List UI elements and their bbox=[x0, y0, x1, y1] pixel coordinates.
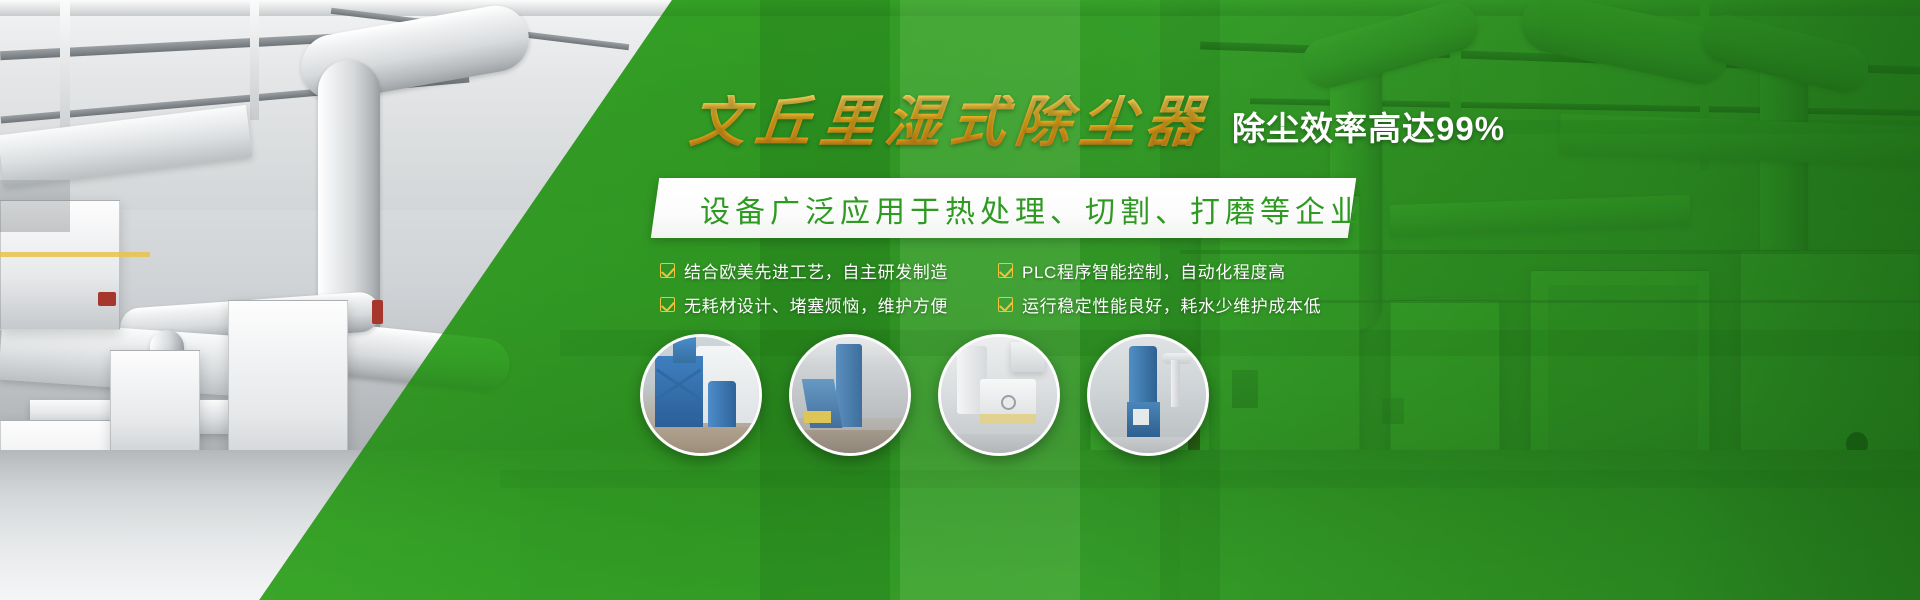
product-thumbnail-4[interactable] bbox=[1087, 334, 1209, 456]
product-thumbnail-2[interactable] bbox=[789, 334, 911, 456]
check-icon bbox=[660, 263, 675, 278]
list-item: 运行稳定性能良好，耗水少维护成本低 bbox=[998, 292, 1321, 317]
title-subheading: 除尘效率高达99% bbox=[1232, 112, 1505, 151]
feature-bullet-list: 结合欧美先进工艺，自主研发制造 PLC程序智能控制，自动化程度高 无耗材设计、堵… bbox=[660, 258, 1321, 317]
page-title: 文丘里湿式除尘器 bbox=[687, 95, 1213, 151]
product-thumbnail-strip bbox=[640, 334, 1209, 456]
list-item: PLC程序智能控制，自动化程度高 bbox=[998, 258, 1321, 283]
banner-content: 文丘里湿式除尘器 除尘效率高达99% 设备广泛应用于热处理、切割、打磨等企业 结… bbox=[0, 0, 1920, 600]
list-item: 结合欧美先进工艺，自主研发制造 bbox=[660, 258, 960, 283]
bullet-label: PLC程序智能控制，自动化程度高 bbox=[1022, 258, 1286, 283]
bullet-label: 无耗材设计、堵塞烦恼，维护方便 bbox=[684, 292, 948, 317]
product-banner: 文丘里湿式除尘器 除尘效率高达99% 设备广泛应用于热处理、切割、打磨等企业 结… bbox=[0, 0, 1920, 600]
tagline-text: 设备广泛应用于热处理、切割、打磨等企业 bbox=[700, 186, 1320, 231]
check-icon bbox=[998, 263, 1013, 278]
bullet-label: 结合欧美先进工艺，自主研发制造 bbox=[684, 258, 948, 283]
check-icon bbox=[660, 297, 675, 312]
check-icon bbox=[998, 297, 1013, 312]
bullet-label: 运行稳定性能良好，耗水少维护成本低 bbox=[1022, 292, 1321, 317]
list-item: 无耗材设计、堵塞烦恼，维护方便 bbox=[660, 292, 960, 317]
product-thumbnail-1[interactable] bbox=[640, 334, 762, 456]
title-row: 文丘里湿式除尘器 除尘效率高达99% bbox=[690, 95, 1505, 151]
product-thumbnail-3[interactable] bbox=[938, 334, 1060, 456]
